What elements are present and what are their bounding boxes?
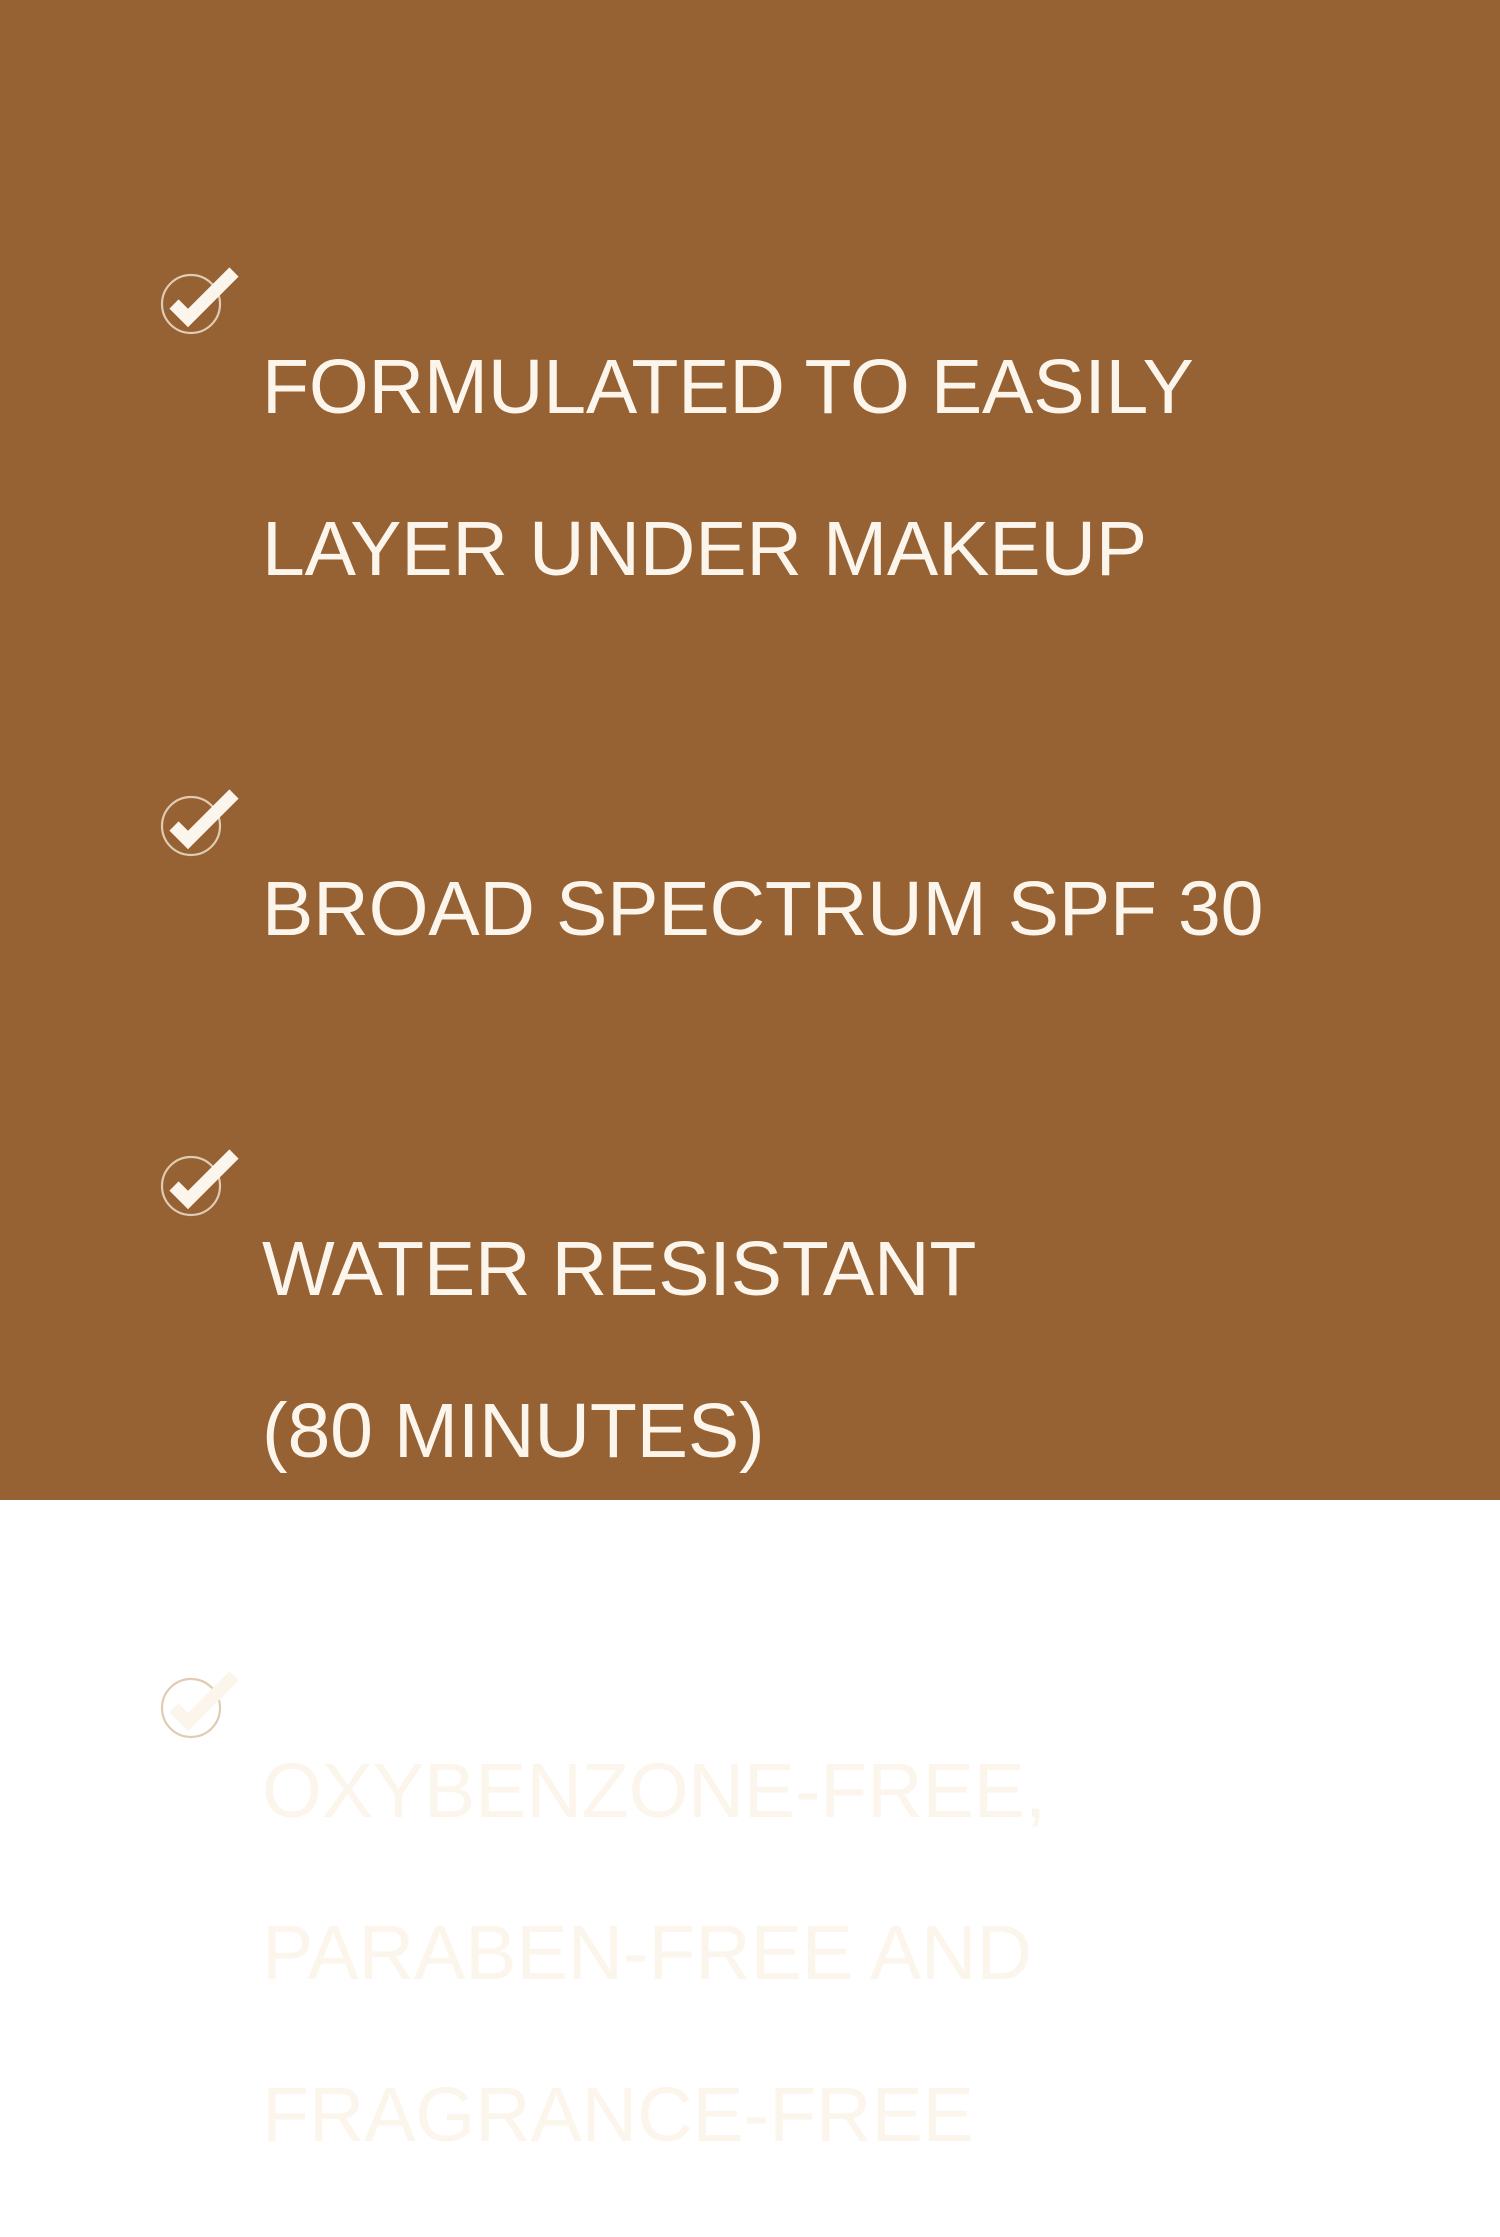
list-item-label: BROAD SPECTRUM SPF 30 <box>262 784 1360 1031</box>
list-item: WATER RESISTANT (80 MINUTES) <box>160 1144 1360 1553</box>
list-item-line: FORMULATED TO EASILY <box>262 347 1360 428</box>
list-item-line: BROAD SPECTRUM SPF 30 <box>262 869 1360 950</box>
list-item: BROAD SPECTRUM SPF 30 <box>160 784 1360 1031</box>
list-item-label: WATER RESISTANT (80 MINUTES) <box>262 1144 1360 1553</box>
list-item-line: (80 MINUTES) <box>262 1391 1360 1472</box>
list-item: OXYBENZONE-FREE, PARABEN-FREE AND FRAGRA… <box>160 1666 1360 2237</box>
check-circle-icon <box>160 786 262 870</box>
list-item-line: WATER RESISTANT <box>262 1229 1360 1310</box>
check-circle-icon <box>160 264 262 348</box>
list-item: FORMULATED TO EASILY LAYER UNDER MAKEUP <box>160 262 1360 671</box>
feature-claims-list: FORMULATED TO EASILY LAYER UNDER MAKEUP … <box>160 262 1360 2237</box>
list-item-line: FRAGRANCE-FREE <box>262 2075 1360 2156</box>
check-circle-icon <box>160 1146 262 1230</box>
check-circle-icon <box>160 1668 262 1752</box>
list-item-line: OXYBENZONE-FREE, <box>262 1751 1360 1832</box>
list-item-label: OXYBENZONE-FREE, PARABEN-FREE AND FRAGRA… <box>262 1666 1360 2237</box>
list-item-label: FORMULATED TO EASILY LAYER UNDER MAKEUP <box>262 262 1360 671</box>
list-item-line: LAYER UNDER MAKEUP <box>262 509 1360 590</box>
list-item-line: PARABEN-FREE AND <box>262 1913 1360 1994</box>
product-claims-panel: FORMULATED TO EASILY LAYER UNDER MAKEUP … <box>0 0 1500 1500</box>
